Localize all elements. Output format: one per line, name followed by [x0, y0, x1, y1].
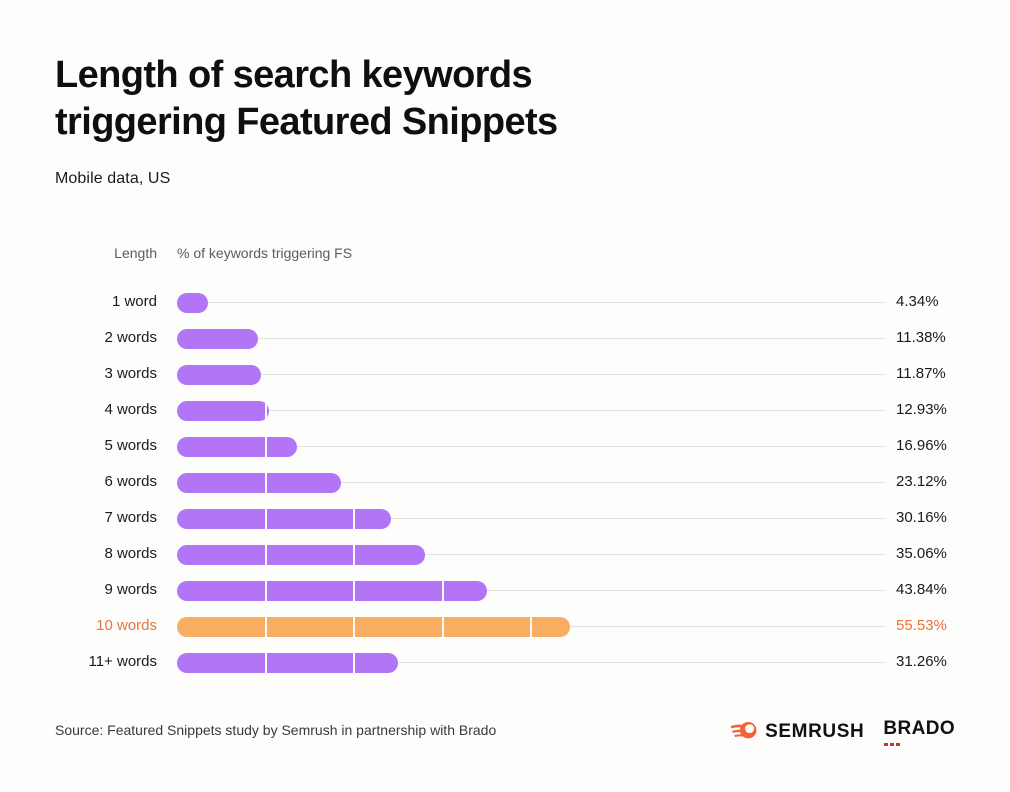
bar-wrapper	[177, 401, 269, 421]
brado-dots-icon	[884, 743, 900, 746]
bar-value-label: 43.84%	[896, 581, 947, 598]
bar-segment-divider	[442, 617, 444, 637]
bar-wrapper	[177, 509, 391, 529]
bar-segment-divider	[265, 473, 267, 493]
bar-wrapper	[177, 293, 208, 313]
bar-segment-divider	[353, 617, 355, 637]
bar-category-label: 9 words	[37, 581, 157, 598]
bar-segment-divider	[265, 509, 267, 529]
bar-category-label: 1 word	[37, 293, 157, 310]
bar-wrapper	[177, 329, 258, 349]
bar	[177, 509, 391, 529]
bar	[177, 581, 487, 601]
bar-segment-divider	[442, 581, 444, 601]
bar-value-label: 12.93%	[896, 401, 947, 418]
bar-track	[177, 374, 885, 375]
bar-category-label: 3 words	[37, 365, 157, 382]
bar-row: 8 words35.06%	[0, 537, 1010, 573]
bar-segment-divider	[265, 581, 267, 601]
bar-wrapper	[177, 617, 570, 637]
bar-row: 1 word4.34%	[0, 285, 1010, 321]
bar-category-label: 11+ words	[37, 653, 157, 670]
bar-wrapper	[177, 545, 425, 565]
bar-value-label: 4.34%	[896, 293, 939, 310]
bar-row: 6 words23.12%	[0, 465, 1010, 501]
bar-value-label: 11.87%	[896, 365, 946, 382]
brado-logo: BRADO	[883, 718, 955, 746]
bar-value-label: 35.06%	[896, 545, 947, 562]
bar-row: 10 words55.53%	[0, 609, 1010, 645]
bar	[177, 545, 425, 565]
bar-segment-divider	[353, 509, 355, 529]
comet-icon	[730, 720, 758, 745]
logo-group: SEMRUSH BRADO	[730, 718, 955, 746]
bar-wrapper	[177, 365, 261, 385]
bar-row: 7 words30.16%	[0, 501, 1010, 537]
bar-segment-divider	[353, 545, 355, 565]
bar-category-label: 5 words	[37, 437, 157, 454]
bar-value-label: 11.38%	[896, 329, 946, 346]
page-title: Length of search keywords triggering Fea…	[55, 52, 795, 146]
bar-category-label: 4 words	[37, 401, 157, 418]
bar	[177, 473, 341, 493]
bar	[177, 293, 208, 313]
infographic-page: Length of search keywords triggering Fea…	[0, 0, 1010, 792]
bar-wrapper	[177, 653, 398, 673]
bar	[177, 617, 570, 637]
source-note: Source: Featured Snippets study by Semru…	[55, 722, 496, 738]
semrush-logo: SEMRUSH	[730, 720, 864, 745]
brado-wordmark: BRADO	[883, 718, 955, 739]
bar-segment-divider	[265, 617, 267, 637]
bar-value-label: 55.53%	[896, 617, 947, 634]
bar-wrapper	[177, 437, 297, 457]
bar-segment-divider	[265, 545, 267, 565]
bar-value-label: 23.12%	[896, 473, 947, 490]
bar-category-label: 10 words	[37, 617, 157, 634]
bar-chart: 1 word4.34%2 words11.38%3 words11.87%4 w…	[0, 285, 1010, 681]
bar-value-label: 16.96%	[896, 437, 947, 454]
bar	[177, 401, 269, 421]
bar-category-label: 6 words	[37, 473, 157, 490]
bar-wrapper	[177, 581, 487, 601]
bar-category-label: 7 words	[37, 509, 157, 526]
bar-track	[177, 302, 885, 303]
bar-segment-divider	[265, 653, 267, 673]
bar-track	[177, 338, 885, 339]
bar-row: 11+ words31.26%	[0, 645, 1010, 681]
bar-row: 4 words12.93%	[0, 393, 1010, 429]
bar-track	[177, 410, 885, 411]
bar-row: 5 words16.96%	[0, 429, 1010, 465]
bar-value-label: 30.16%	[896, 509, 947, 526]
bar-row: 9 words43.84%	[0, 573, 1010, 609]
semrush-wordmark: SEMRUSH	[765, 721, 864, 743]
page-subtitle: Mobile data, US	[55, 170, 170, 188]
bar-segment-divider	[530, 617, 532, 637]
column-header-percent: % of keywords triggering FS	[177, 245, 352, 261]
bar-segment-divider	[265, 437, 267, 457]
bar-category-label: 8 words	[37, 545, 157, 562]
column-header-length: Length	[57, 245, 157, 261]
bar-segment-divider	[353, 581, 355, 601]
bar-segment-divider	[265, 401, 267, 421]
bar-segment-divider	[353, 653, 355, 673]
bar-wrapper	[177, 473, 341, 493]
bar	[177, 653, 398, 673]
bar-row: 2 words11.38%	[0, 321, 1010, 357]
bar-category-label: 2 words	[37, 329, 157, 346]
bar	[177, 329, 258, 349]
bar-value-label: 31.26%	[896, 653, 947, 670]
bar	[177, 365, 261, 385]
bar-row: 3 words11.87%	[0, 357, 1010, 393]
bar	[177, 437, 297, 457]
